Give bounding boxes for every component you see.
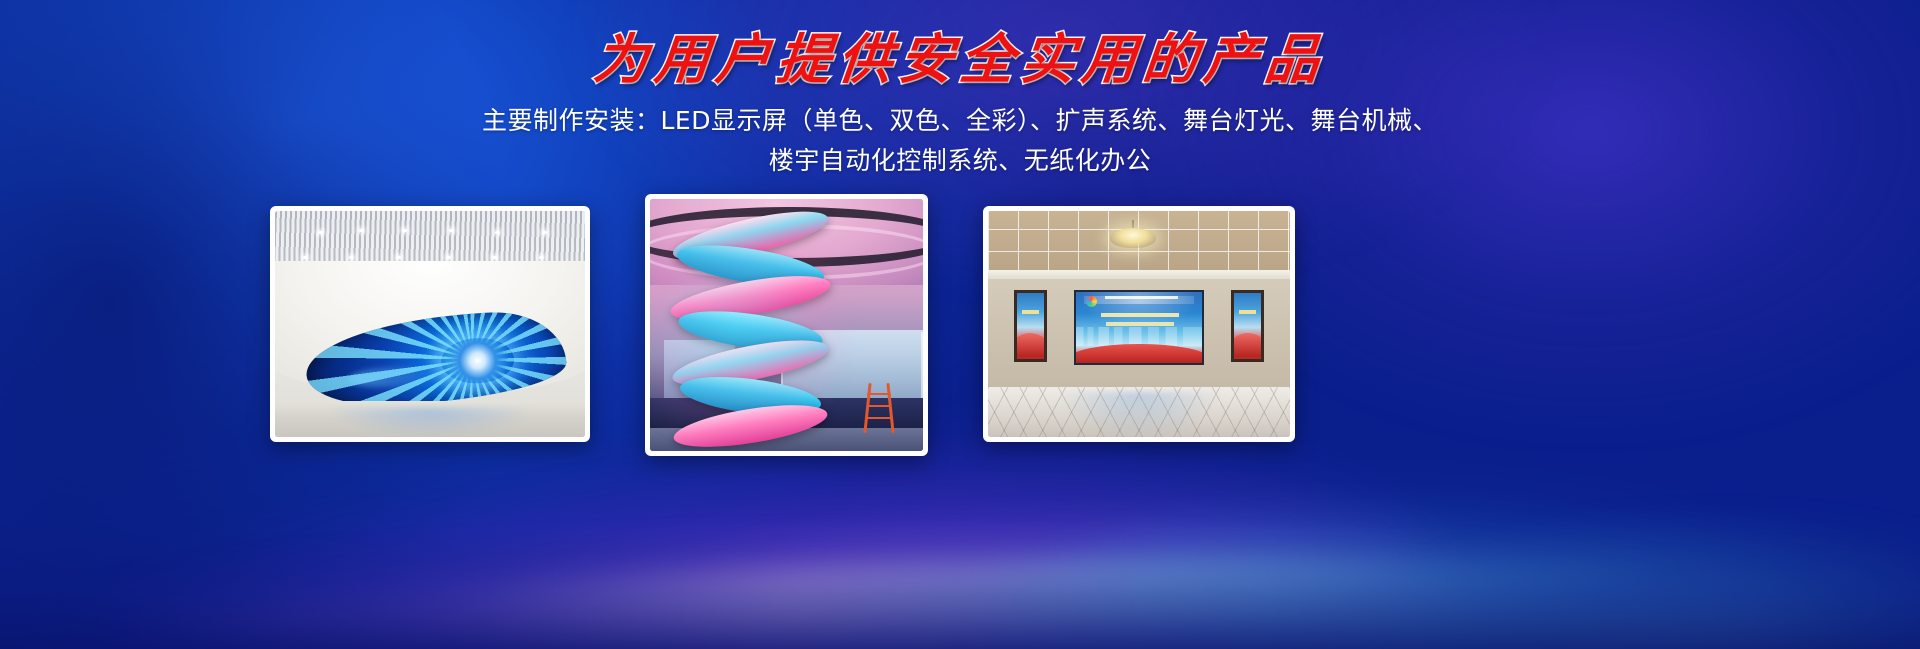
ceiling-spotlight: [539, 256, 544, 259]
screen-text-line: [1239, 310, 1256, 314]
banner-title-container: 为用户提供安全实用的产品: [0, 26, 1920, 94]
banner-subtitle-container: 主要制作安装：LED显示屏（单色、双色、全彩）、扩声系统、舞台灯光、舞台机械、 …: [0, 101, 1920, 181]
screen-red-sweep: [1014, 333, 1047, 357]
photo-eye-shaped-led-display: [275, 211, 585, 437]
ladder-rail: [863, 383, 871, 433]
promo-banner: 为用户提供安全实用的产品 主要制作安装：LED显示屏（单色、双色、全彩）、扩声系…: [0, 0, 1920, 649]
photo-frame: [275, 211, 585, 437]
floor-reflection: [331, 408, 529, 437]
screen-red-ribbon: [1074, 344, 1204, 362]
photo-card-spiral-ribbon-led-display[interactable]: [645, 194, 928, 456]
banner-subtitle-line-2: 楼宇自动化控制系统、无纸化办公: [0, 141, 1920, 181]
ladder-step: [867, 417, 891, 419]
ribbon-glow: [650, 214, 853, 446]
side-led-screen-right: [1231, 290, 1264, 362]
screen-highlight: [348, 366, 437, 389]
photo-card-eye-shaped-led-display[interactable]: [270, 206, 590, 442]
floor-reflection: [1060, 392, 1217, 437]
step-ladder: [862, 383, 896, 433]
screen-slogan-line-1: [1101, 313, 1179, 317]
screen-text-line: [1022, 310, 1039, 314]
eye-shaped-led-screen: [304, 309, 568, 408]
chandelier: [1110, 220, 1156, 250]
screen-slogan-line-2: [1106, 322, 1174, 326]
banner-title: 为用户提供安全实用的产品: [590, 26, 1329, 94]
photo-conference-hall-led-display: [988, 211, 1290, 437]
ceiling-spotlight: [449, 229, 454, 232]
ladder-rail: [886, 383, 894, 433]
photo-spiral-ribbon-led-display: [650, 199, 923, 451]
banner-subtitle-line-1: 主要制作安装：LED显示屏（单色、双色、全彩）、扩声系统、舞台灯光、舞台机械、: [0, 101, 1920, 141]
ceiling-spotlight: [446, 256, 451, 259]
ceiling-spotlight: [359, 229, 364, 232]
screen-red-sweep: [1231, 333, 1264, 357]
ladder-step: [867, 405, 891, 407]
main-led-screen: [1074, 290, 1204, 365]
screen-company-name: [1105, 296, 1178, 299]
side-led-screen-left: [1014, 290, 1047, 362]
photo-gallery: [0, 0, 1920, 649]
photo-frame: [650, 199, 923, 451]
photo-card-conference-hall-led-display[interactable]: [983, 206, 1295, 442]
screen-skyline: [1076, 327, 1202, 345]
photo-frame: [988, 211, 1290, 437]
spiral-led-ribbon: [666, 214, 835, 446]
